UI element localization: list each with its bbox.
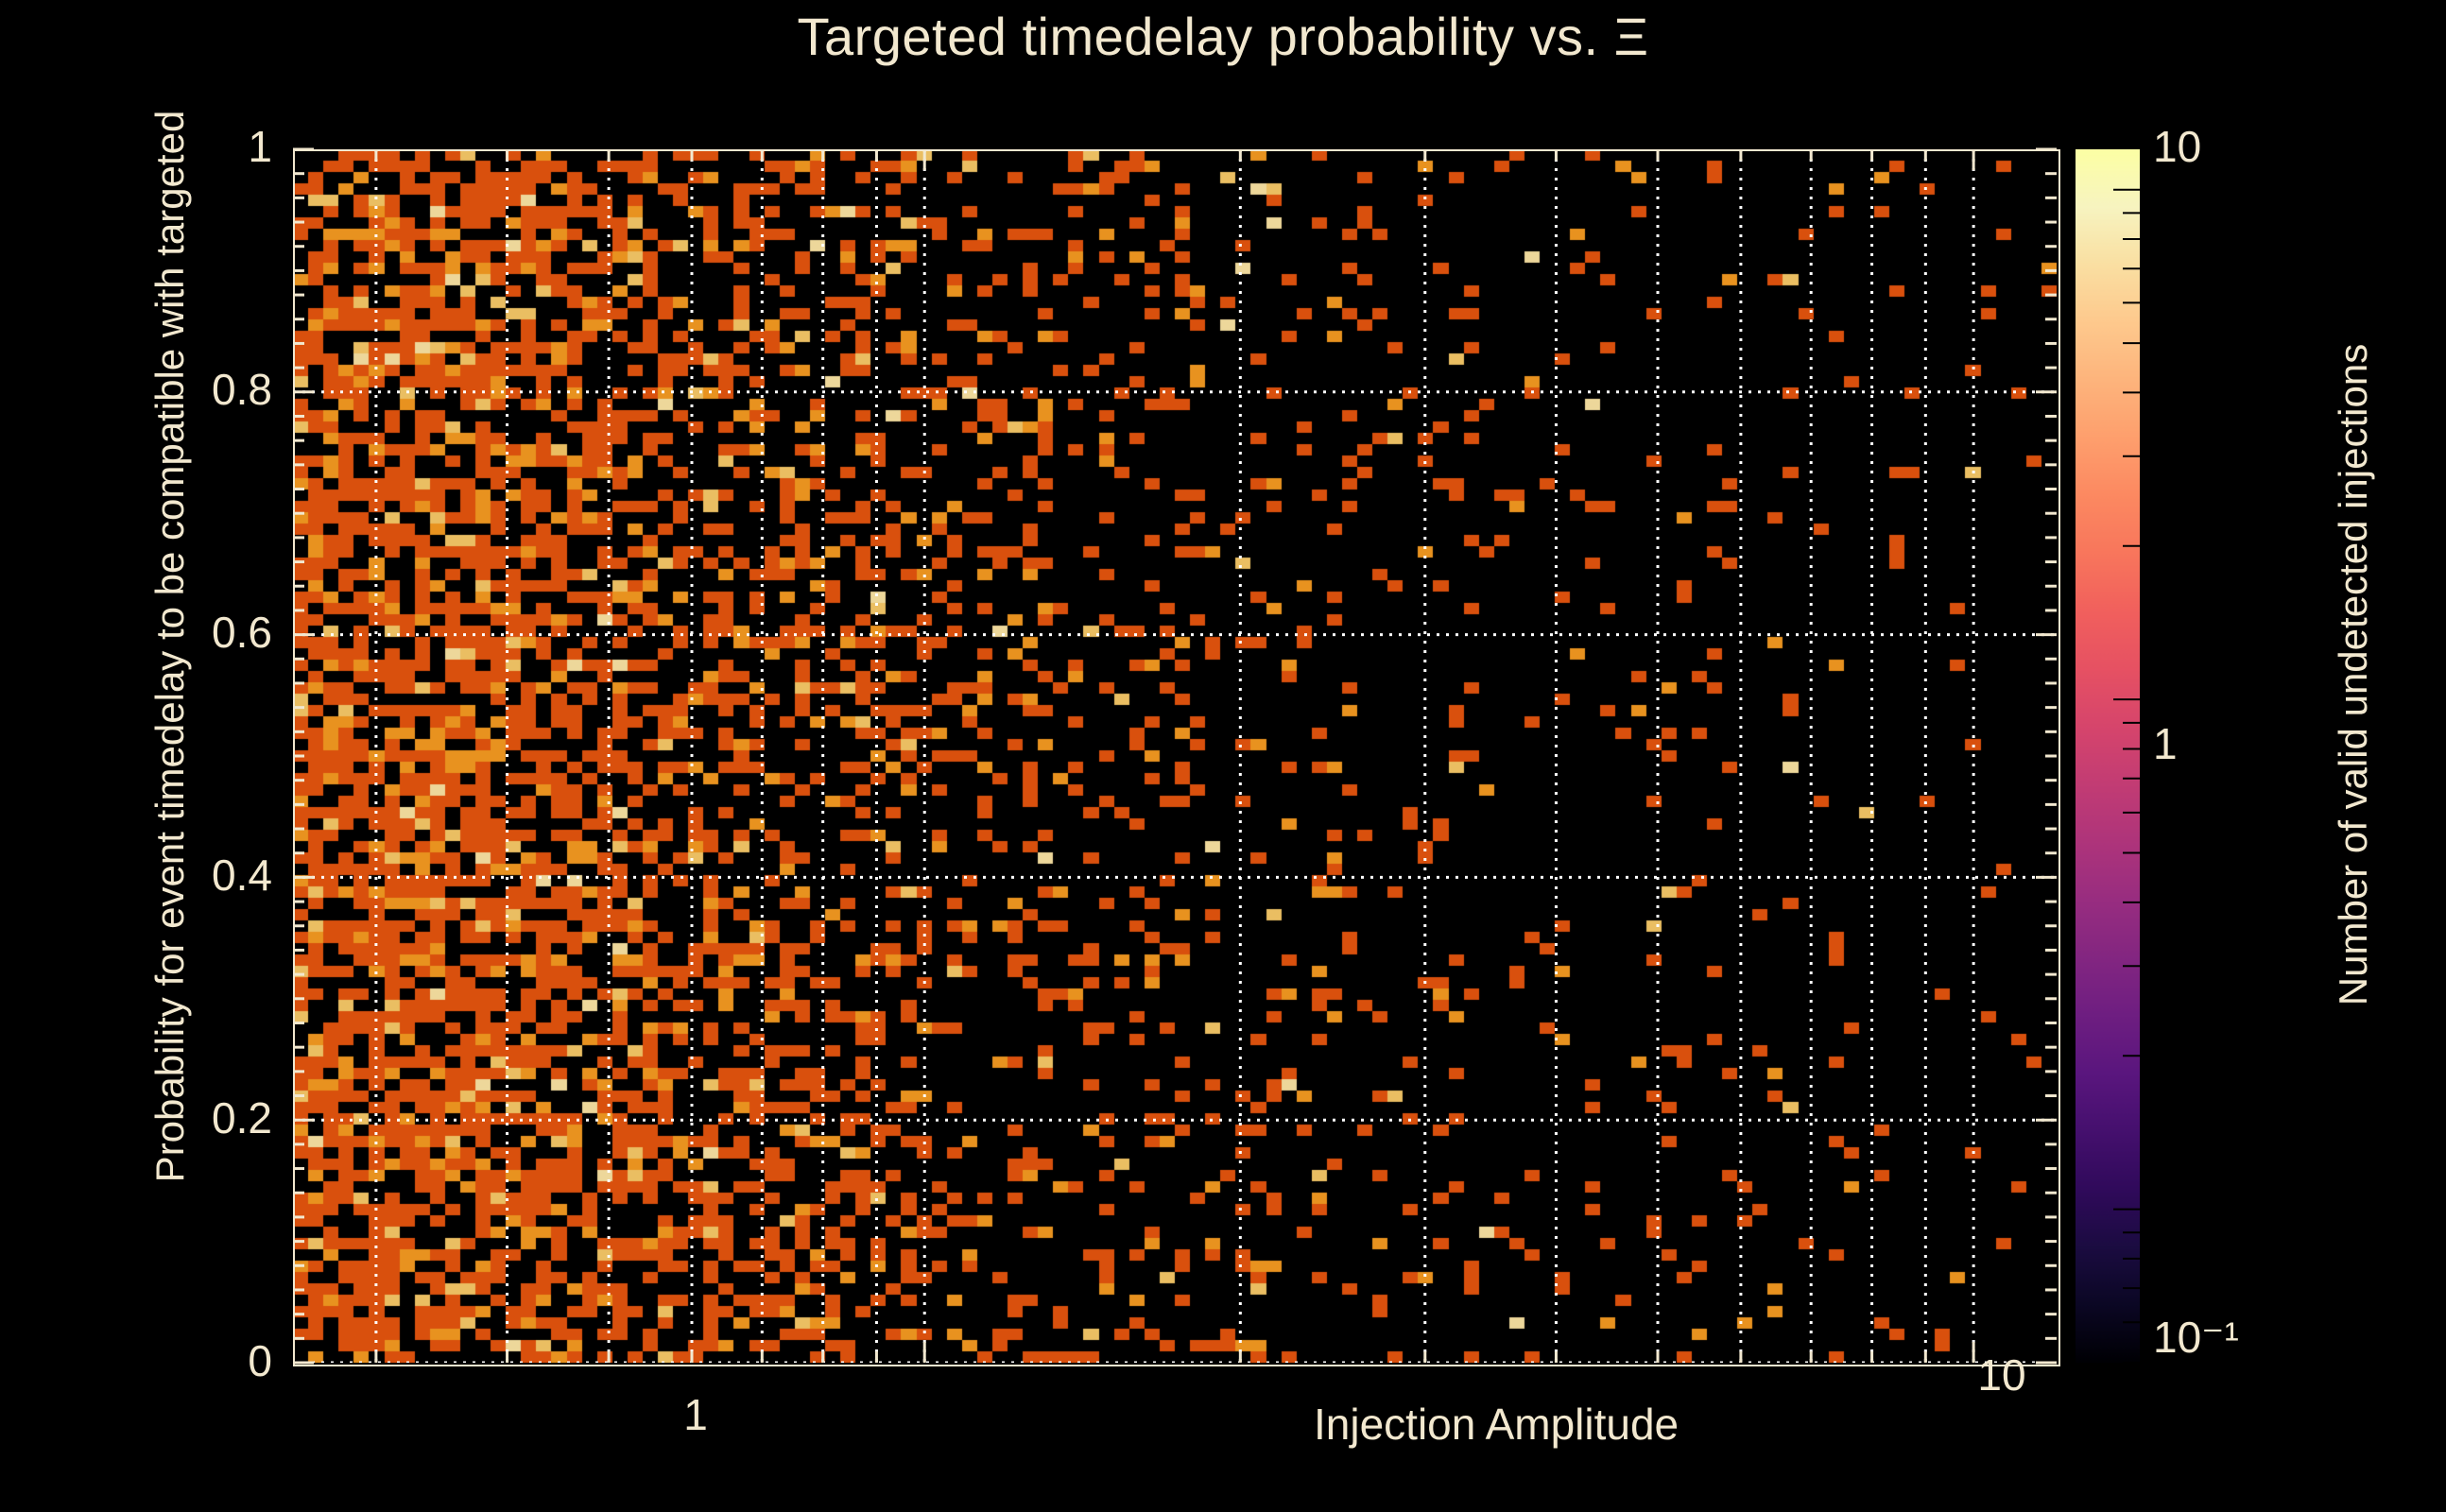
ytick-label-0: 0 bbox=[248, 1335, 272, 1386]
x-axis-title: Injection Amplitude bbox=[1314, 1399, 1679, 1450]
page-title: Targeted timedelay probability vs. Ξ bbox=[0, 6, 2446, 67]
ytick-label-1: 1 bbox=[248, 121, 272, 172]
colorbar-title: Number of valid undetected injections bbox=[2331, 202, 2376, 1147]
colorbar-gradient bbox=[2076, 149, 2140, 1363]
heatmap-cells bbox=[293, 149, 2057, 1363]
heatmap-plot-area[interactable] bbox=[293, 149, 2057, 1363]
colorbar-label-1: 1 bbox=[2153, 718, 2178, 769]
xtick-label-1: 1 bbox=[662, 1389, 730, 1440]
ytick-label-0p4: 0.4 bbox=[212, 850, 272, 901]
colorbar-label-0p1: 10⁻¹ bbox=[2153, 1312, 2239, 1363]
ytick-label-0p2: 0.2 bbox=[212, 1092, 272, 1143]
ytick-label-0p6: 0.6 bbox=[212, 607, 272, 658]
colorbar-label-10: 10 bbox=[2153, 121, 2201, 172]
y-axis-title: Probability for event timedelay to be co… bbox=[147, 32, 193, 1261]
colorbar[interactable] bbox=[2076, 149, 2140, 1363]
ytick-label-0p8: 0.8 bbox=[212, 364, 272, 415]
xtick-label-10: 10 bbox=[1959, 1349, 2044, 1400]
plot-root: Targeted timedelay probability vs. Ξ 1 0… bbox=[0, 0, 2446, 1512]
